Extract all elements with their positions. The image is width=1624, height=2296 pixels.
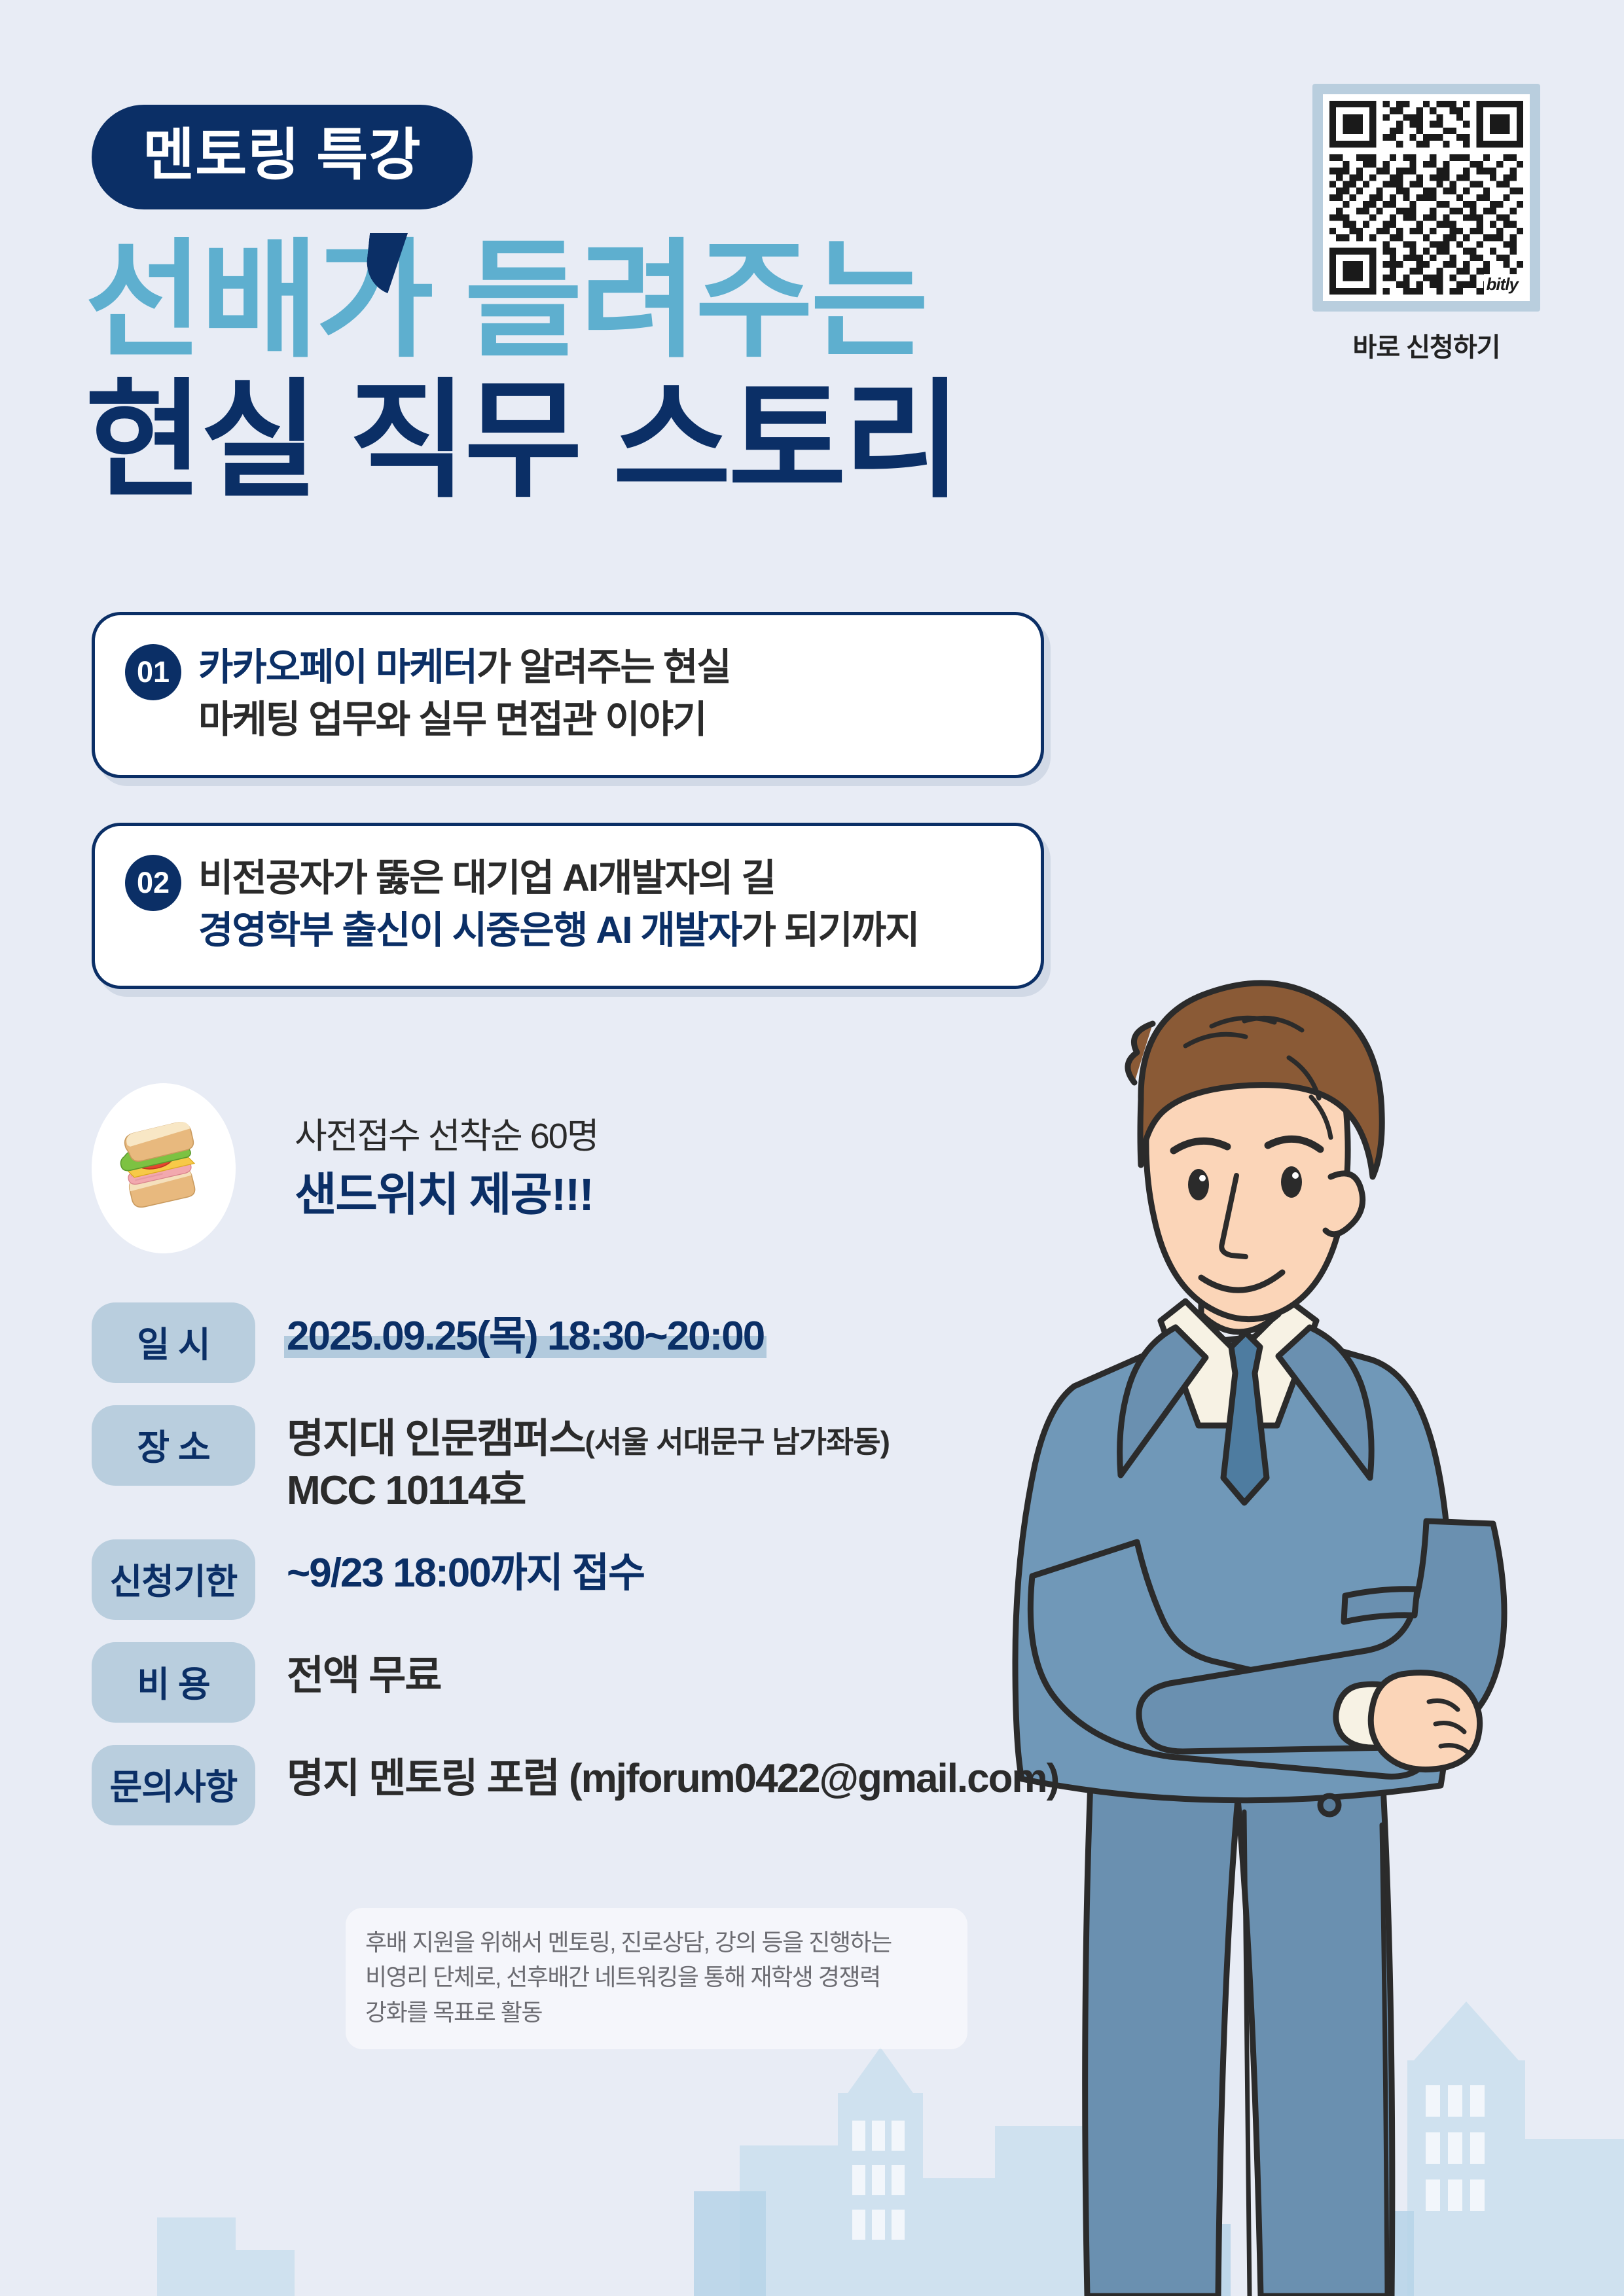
info-value-text: 2025.09.25(목) 18:30~20:00 — [287, 1314, 764, 1359]
promo-title: 샌드위치 제공!!! — [295, 1168, 598, 1221]
session-line-1-emphasis: 카카오페이 마케터 — [198, 646, 477, 689]
info-value-secondary: MCC 10114호 — [287, 1465, 1074, 1516]
session-line-1-rest: 가 알려주는 현실 — [477, 646, 731, 689]
info-row-contact: 문의사항 명지 멘토링 포럼 (mjforum0422@gmail.com) — [92, 1745, 1074, 1825]
info-value: 명지대 인문캠퍼스(서울 서대문구 남가좌동) — [287, 1413, 1074, 1465]
note-line-2: 비영리 단체로, 선후배간 네트워킹을 통해 재학생 경쟁력 — [365, 1960, 948, 1994]
info-value: ~9/23 18:00까지 접수 — [287, 1547, 1074, 1599]
session-line-1-rest: 비전공자가 뚫은 대기업 AI개발자의 길 — [198, 857, 775, 899]
info-label: 신청기한 — [92, 1539, 255, 1620]
session-line-2: 경영학부 출신이 시중은행 AI 개발자가 되기까지 — [198, 905, 1011, 957]
info-row-datetime: 일 시 2025.09.25(목) 18:30~20:00 — [92, 1302, 1074, 1383]
note-line-3: 강화를 목표로 활동 — [365, 1995, 948, 2030]
title-line-2: 현실 직무 스토리 — [85, 376, 959, 507]
sandwich-icon — [115, 1116, 213, 1221]
session-line-2-rest: 가 되기까지 — [742, 909, 919, 952]
qr-frame[interactable]: bitly — [1312, 84, 1540, 312]
note-line-1: 후배 지원을 위해서 멘토링, 진로상담, 강의 등을 진행하는 — [365, 1925, 948, 1960]
bitly-watermark: bitly — [1484, 274, 1521, 295]
info-row-location: 장 소 명지대 인문캠퍼스(서울 서대문구 남가좌동) MCC 10114호 — [92, 1405, 1074, 1517]
qr-caption: 바로 신청하기 — [1312, 326, 1540, 364]
info-value-text: 명지대 인문캠퍼스 — [287, 1416, 585, 1462]
session-number-badge: 02 — [125, 855, 181, 911]
session-card: 01 카카오페이 마케터가 알려주는 현실 마케팅 업무와 실무 면접관 이야기 — [92, 612, 1044, 778]
info-row-cost: 비 용 전액 무료 — [92, 1642, 1074, 1723]
sandwich-image-frame — [92, 1083, 236, 1253]
mentoring-badge: 멘토링 특강 — [92, 105, 473, 209]
session-card: 02 비전공자가 뚫은 대기업 AI개발자의 길 경영학부 출신이 시중은행 A… — [92, 823, 1044, 989]
title-line-1: 선배가 들려주는 — [85, 236, 959, 367]
info-label: 일 시 — [92, 1302, 255, 1383]
session-line-1: 카카오페이 마케터가 알려주는 현실 — [198, 641, 1011, 694]
page-title: 선배가 들려주는 현실 직무 스토리 — [85, 236, 959, 507]
session-number-badge: 01 — [125, 644, 181, 700]
qr-code-icon[interactable] — [1329, 101, 1523, 295]
info-label: 문의사항 — [92, 1745, 255, 1825]
info-value-detail: (서울 서대문구 남가좌동) — [585, 1425, 890, 1459]
badge-label: 멘토링 특강 — [92, 105, 473, 209]
qr-inner[interactable]: bitly — [1323, 94, 1530, 301]
organization-note: 후배 지원을 위해서 멘토링, 진로상담, 강의 등을 진행하는 비영리 단체로… — [346, 1908, 967, 2049]
poster-canvas: 멘토링 특강 선배가 들려주는 현실 직무 스토리 — [0, 0, 1624, 2296]
session-line-1: 비전공자가 뚫은 대기업 AI개발자의 길 — [198, 852, 1011, 905]
sandwich-promo: 사전접수 선착순 60명 샌드위치 제공!!! — [92, 1083, 598, 1253]
info-value[interactable]: 명지 멘토링 포럼 (mjforum0422@gmail.com) — [287, 1753, 1074, 1804]
info-value: 2025.09.25(목) 18:30~20:00 — [287, 1310, 764, 1362]
info-value: 전액 무료 — [287, 1650, 1074, 1702]
session-line-2-emphasis: 경영학부 출신이 시중은행 AI 개발자 — [198, 909, 742, 952]
qr-registration-block[interactable]: bitly 바로 신청하기 — [1312, 84, 1540, 364]
event-info-table: 일 시 2025.09.25(목) 18:30~20:00 장 소 명지대 인문… — [92, 1302, 1074, 1848]
info-row-deadline: 신청기한 ~9/23 18:00까지 접수 — [92, 1539, 1074, 1620]
info-label: 장 소 — [92, 1405, 255, 1486]
session-line-2: 마케팅 업무와 실무 면접관 이야기 — [198, 694, 1011, 746]
promo-subtitle: 사전접수 선착순 60명 — [295, 1115, 598, 1158]
info-label: 비 용 — [92, 1642, 255, 1723]
session-card-list: 01 카카오페이 마케터가 알려주는 현실 마케팅 업무와 실무 면접관 이야기… — [92, 612, 1044, 989]
session-line-2-rest: 마케팅 업무와 실무 면접관 이야기 — [198, 698, 706, 741]
